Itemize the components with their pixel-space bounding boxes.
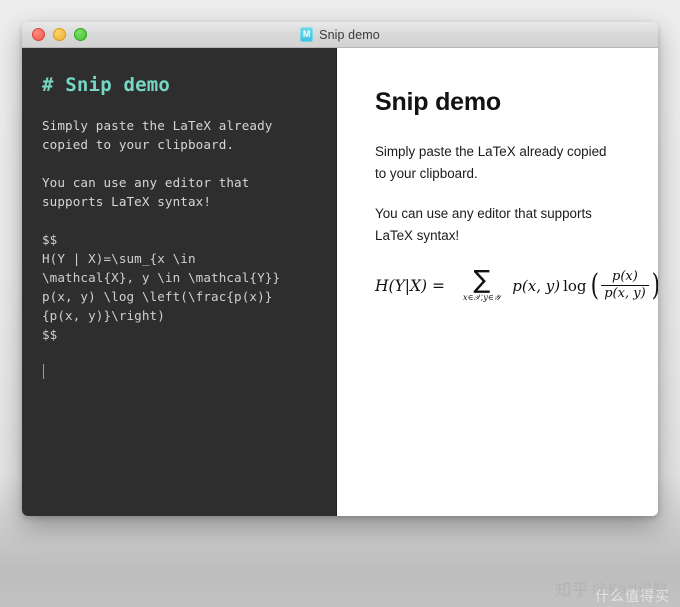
rendered-preview[interactable]: Snip demo Simply paste the LaTeX already… <box>337 48 658 516</box>
title-bar-center: M Snip demo <box>22 27 658 42</box>
editor-caret-line <box>42 363 318 381</box>
maximize-window-button[interactable] <box>74 28 87 41</box>
summation-subscript: x∈𝒳,y∈𝒴 <box>463 293 500 303</box>
split-view: # Snip demo Simply paste the LaTeX alrea… <box>22 48 658 516</box>
text-caret <box>43 364 44 379</box>
markdown-app-icon: M <box>300 27 313 42</box>
source-math-block: $$ H(Y | X)=\sum_{x \in \mathcal{X}, y \… <box>42 230 318 344</box>
application-window: M Snip demo # Snip demo Simply paste the… <box>22 22 658 516</box>
watermark-platform: 知乎 <box>555 576 590 601</box>
markdown-source-editor[interactable]: # Snip demo Simply paste the LaTeX alrea… <box>22 48 337 516</box>
preview-heading: Snip demo <box>375 88 620 117</box>
fraction-denominator: p(x, y) <box>601 286 648 302</box>
source-paragraph-2: You can use any editor that supports LaT… <box>42 173 318 211</box>
window-title: Snip demo <box>319 28 380 42</box>
source-heading-line: # Snip demo <box>42 74 318 96</box>
watermark: 知乎 @Karl说数 <box>555 576 669 601</box>
formula-log-label: log <box>563 277 586 295</box>
title-bar[interactable]: M Snip demo <box>22 22 658 48</box>
formula-open-paren: ( <box>590 274 598 297</box>
source-paragraph-1: Simply paste the LaTeX already copied to… <box>42 116 318 154</box>
minimize-window-button[interactable] <box>53 28 66 41</box>
close-window-button[interactable] <box>32 28 45 41</box>
formula-left-hand-side: H(Y|X) = <box>375 277 445 295</box>
formula-close-paren: ) <box>651 274 658 297</box>
rendered-math-formula: H(Y|X) = ∑ x∈𝒳,y∈𝒴 p(x, y) log ( p(x) p(… <box>375 269 620 303</box>
fraction-numerator: p(x) <box>609 269 641 285</box>
window-controls <box>32 28 87 41</box>
formula-fraction: p(x) p(x, y) <box>601 269 648 302</box>
summation-operator: ∑ x∈𝒳,y∈𝒴 <box>463 269 500 303</box>
formula-probability-term: p(x, y) <box>512 277 560 295</box>
sigma-icon: ∑ <box>473 269 490 292</box>
preview-paragraph-1: Simply paste the LaTeX already copied to… <box>375 141 620 185</box>
preview-paragraph-2: You can use any editor that supports LaT… <box>375 203 620 247</box>
watermark-author: @Karl说数 <box>593 578 669 599</box>
